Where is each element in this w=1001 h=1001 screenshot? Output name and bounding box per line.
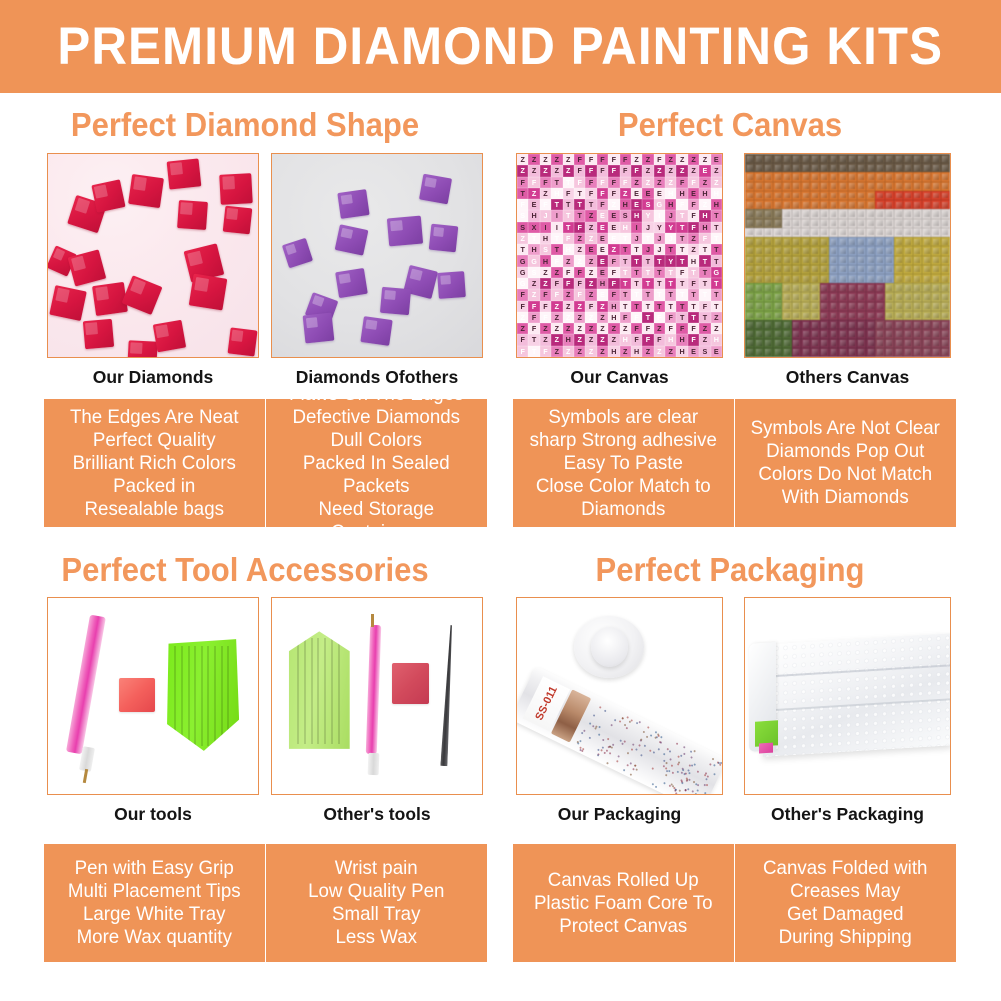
others-canvas-cell bbox=[857, 292, 866, 301]
tube-print-speck bbox=[624, 723, 627, 726]
others-canvas-cell bbox=[857, 191, 866, 200]
canvas-cell: H bbox=[620, 334, 631, 345]
tube-print-speck bbox=[598, 733, 601, 736]
canvas-cell: H bbox=[608, 312, 619, 323]
canvas-cell: F bbox=[688, 278, 699, 289]
others-canvas-cell bbox=[792, 292, 801, 301]
others-canvas-cell bbox=[754, 311, 763, 320]
tube-print-speck bbox=[580, 740, 583, 743]
canvas-cell: F bbox=[654, 312, 665, 323]
others-canvas-cell bbox=[913, 182, 922, 191]
tube-print-speck bbox=[621, 717, 624, 720]
others-canvas-cell bbox=[792, 302, 801, 311]
others-canvas-cell bbox=[894, 348, 903, 357]
canvas-cell: T bbox=[563, 210, 574, 221]
panel-diamond-shape-ours: The Edges Are Neat Perfect Quality Brill… bbox=[48, 406, 260, 521]
others-canvas-cell bbox=[754, 228, 763, 237]
others-canvas-cell bbox=[773, 163, 782, 172]
others-canvas-cell bbox=[885, 182, 894, 191]
canvas-cell: T bbox=[574, 199, 585, 210]
others-canvas-cell bbox=[801, 172, 810, 181]
others-canvas-cell bbox=[875, 265, 884, 274]
canvas-cell: T bbox=[551, 233, 562, 244]
canvas-cell: G bbox=[517, 255, 528, 266]
canvas-cell: T bbox=[676, 255, 687, 266]
tube-print-speck bbox=[693, 763, 696, 766]
others-canvas-cell bbox=[792, 163, 801, 172]
canvas-cell: T bbox=[620, 278, 631, 289]
canvas-cell: H bbox=[620, 222, 631, 233]
others-canvas-cell bbox=[866, 182, 875, 191]
others-canvas-cell bbox=[866, 320, 875, 329]
others-canvas-cell bbox=[810, 320, 819, 329]
tube-print-speck bbox=[680, 754, 683, 757]
canvas-cell: H bbox=[688, 255, 699, 266]
others-canvas-cell bbox=[838, 320, 847, 329]
tube-print-speck bbox=[596, 754, 599, 757]
others-canvas-cell bbox=[922, 200, 931, 209]
others-canvas-cell bbox=[875, 320, 884, 329]
others-canvas-cell bbox=[903, 191, 912, 200]
section-title-diamond-shape: Perfect Diamond Shape bbox=[34, 108, 457, 141]
others-canvas-cell bbox=[764, 256, 773, 265]
canvas-cell: Z bbox=[517, 165, 528, 176]
others-canvas-cell bbox=[922, 172, 931, 181]
canvas-cell: Z bbox=[528, 289, 539, 300]
others-canvas-cell bbox=[848, 339, 857, 348]
canvas-cell: Z bbox=[585, 334, 596, 345]
canvas-cell: Z bbox=[563, 154, 574, 165]
section-title-tool-accessories: Perfect Tool Accessories bbox=[34, 553, 457, 586]
others-canvas-cell bbox=[857, 200, 866, 209]
tube-print-speck bbox=[697, 784, 700, 787]
photo-frame-our-diamonds bbox=[47, 153, 259, 358]
canvas-cell: F bbox=[631, 323, 642, 334]
photo-frame-other-packaging bbox=[744, 597, 951, 795]
others-canvas-cell bbox=[848, 311, 857, 320]
others-canvas-cell bbox=[745, 237, 754, 246]
others-canvas-cell bbox=[801, 311, 810, 320]
canvas-cell: T bbox=[676, 233, 687, 244]
canvas-cell: F bbox=[699, 301, 710, 312]
canvas-cell: H bbox=[608, 346, 619, 357]
others-canvas-cell bbox=[820, 348, 829, 357]
canvas-cell: Z bbox=[620, 323, 631, 334]
canvas-cell: Z bbox=[608, 199, 619, 210]
canvas-cell: Z bbox=[563, 323, 574, 334]
tube-print-speck bbox=[687, 787, 690, 790]
others-canvas-cell bbox=[754, 163, 763, 172]
others-canvas-cell bbox=[885, 219, 894, 228]
tube-print-speck bbox=[666, 762, 669, 765]
others-canvas-cell bbox=[875, 339, 884, 348]
others-canvas-cell bbox=[875, 154, 884, 163]
canvas-cell: Z bbox=[528, 278, 539, 289]
others-canvas-cell bbox=[894, 163, 903, 172]
canvas-cell: T bbox=[642, 278, 653, 289]
canvas-cell: Z bbox=[585, 255, 596, 266]
canvas-cell: T bbox=[711, 255, 722, 266]
others-canvas-cell bbox=[885, 191, 894, 200]
others-canvas-cell bbox=[745, 283, 754, 292]
panel-tools-others: Wrist pain Low Quality Pen Small Tray Le… bbox=[271, 857, 483, 949]
others-canvas-cell bbox=[848, 348, 857, 357]
canvas-cell: S bbox=[540, 244, 551, 255]
others-canvas-cell bbox=[875, 182, 884, 191]
others-canvas-cell bbox=[848, 200, 857, 209]
others-canvas-cell bbox=[792, 228, 801, 237]
others-canvas-cell bbox=[913, 292, 922, 301]
canvas-cell: T bbox=[631, 267, 642, 278]
others-canvas-cell bbox=[875, 163, 884, 172]
canvas-cell: Z bbox=[517, 154, 528, 165]
others-canvas-cell bbox=[838, 329, 847, 338]
others-canvas-cell bbox=[885, 302, 894, 311]
tube-print-speck bbox=[603, 752, 606, 755]
others-canvas-cell bbox=[820, 256, 829, 265]
canvas-cell: E bbox=[528, 199, 539, 210]
canvas-cell: F bbox=[517, 301, 528, 312]
canvas-cell: Z bbox=[574, 244, 585, 255]
others-canvas-cell bbox=[754, 237, 763, 246]
canvas-cell: H bbox=[711, 199, 722, 210]
others-canvas-cell bbox=[885, 163, 894, 172]
others-canvas-cell bbox=[801, 348, 810, 357]
others-canvas-cell bbox=[801, 200, 810, 209]
others-canvas-cell bbox=[754, 302, 763, 311]
canvas-cell: T bbox=[642, 233, 653, 244]
bubble-mailer bbox=[763, 633, 950, 756]
canvas-cell: Z bbox=[631, 177, 642, 188]
others-canvas-cell bbox=[922, 348, 931, 357]
canvas-cell: H bbox=[540, 255, 551, 266]
canvas-cell: Z bbox=[654, 346, 665, 357]
others-canvas-cell bbox=[922, 339, 931, 348]
others-canvas-cell bbox=[922, 274, 931, 283]
canvas-cell: F bbox=[597, 165, 608, 176]
tube-print-speck bbox=[674, 788, 677, 791]
others-canvas-cell bbox=[885, 246, 894, 255]
others-canvas-cell bbox=[801, 274, 810, 283]
tube-print-speck bbox=[671, 764, 674, 767]
others-canvas-cell bbox=[773, 320, 782, 329]
others-canvas-cell bbox=[894, 228, 903, 237]
others-canvas-cell bbox=[857, 237, 866, 246]
tube-print-speck bbox=[631, 748, 634, 751]
canvas-cell: F bbox=[563, 267, 574, 278]
tube-print-speck bbox=[619, 739, 622, 742]
others-canvas-cell bbox=[866, 209, 875, 218]
red-diamonds-photo bbox=[48, 154, 258, 357]
others-canvas-cell bbox=[838, 172, 847, 181]
canvas-cell: F bbox=[608, 255, 619, 266]
others-canvas-cell bbox=[838, 283, 847, 292]
canvas-cell: F bbox=[563, 188, 574, 199]
tube-print-speck bbox=[676, 742, 679, 745]
others-canvas-cell bbox=[931, 237, 940, 246]
others-canvas-cell bbox=[810, 274, 819, 283]
others-canvas-cell bbox=[792, 191, 801, 200]
tube-print-speck bbox=[618, 720, 621, 723]
others-canvas-cell bbox=[894, 265, 903, 274]
canvas-cell: T bbox=[711, 289, 722, 300]
caption-our-packaging: Our Packaging bbox=[516, 806, 723, 824]
canvas-cell: E bbox=[654, 188, 665, 199]
others-canvas-cell bbox=[903, 283, 912, 292]
canvas-cell: Z bbox=[563, 346, 574, 357]
canvas-cell: F bbox=[517, 346, 528, 357]
others-canvas-cell bbox=[773, 219, 782, 228]
others-canvas-cell bbox=[931, 292, 940, 301]
others-canvas-cell bbox=[848, 329, 857, 338]
others-canvas-cell bbox=[773, 302, 782, 311]
canvas-cell: H bbox=[631, 210, 642, 221]
others-canvas-cell bbox=[838, 246, 847, 255]
tube-print-speck bbox=[668, 770, 671, 773]
others-canvas-cell bbox=[903, 320, 912, 329]
canvas-cell: Z bbox=[699, 154, 710, 165]
others-canvas-cell bbox=[829, 311, 838, 320]
tube-print-speck bbox=[688, 771, 691, 774]
others-canvas-cell bbox=[931, 302, 940, 311]
tube-print-speck bbox=[645, 735, 648, 738]
others-canvas-cell bbox=[764, 200, 773, 209]
others-canvas-cell bbox=[913, 209, 922, 218]
others-canvas-cell bbox=[829, 154, 838, 163]
section-title-packaging: Perfect Packaging bbox=[519, 553, 942, 586]
others-canvas-cell bbox=[820, 182, 829, 191]
others-canvas-cell bbox=[764, 191, 773, 200]
others-canvas-cell bbox=[764, 339, 773, 348]
canvas-cell: Z bbox=[608, 323, 619, 334]
others-canvas-cell bbox=[866, 154, 875, 163]
canvas-cell: T bbox=[551, 244, 562, 255]
canvas-cell: T bbox=[665, 244, 676, 255]
others-canvas-cell bbox=[941, 237, 950, 246]
others-canvas-cell bbox=[820, 320, 829, 329]
canvas-cell: T bbox=[517, 188, 528, 199]
caption-our-tools: Our tools bbox=[47, 806, 259, 824]
tube-print-speck bbox=[660, 735, 663, 738]
canvas-cell: T bbox=[631, 244, 642, 255]
canvas-cell: F bbox=[517, 177, 528, 188]
panel-divider bbox=[265, 399, 267, 527]
others-canvas-cell bbox=[848, 265, 857, 274]
tube-print-speck bbox=[694, 750, 697, 753]
canvas-cell: H bbox=[597, 278, 608, 289]
canvas-cell: Z bbox=[540, 188, 551, 199]
canvas-cell: Z bbox=[574, 255, 585, 266]
others-canvas-cell bbox=[913, 348, 922, 357]
panel-canvas: Symbols are clear sharp Strong adhesive … bbox=[513, 399, 956, 527]
tube-print-speck bbox=[639, 720, 642, 723]
others-canvas-cell bbox=[931, 172, 940, 181]
others-canvas-cell bbox=[801, 292, 810, 301]
others-canvas-cell bbox=[913, 172, 922, 181]
others-canvas-cell bbox=[764, 182, 773, 191]
others-canvas-cell bbox=[922, 246, 931, 255]
others-canvas-cell bbox=[838, 163, 847, 172]
others-canvas-cell bbox=[857, 311, 866, 320]
others-canvas-cell bbox=[857, 274, 866, 283]
others-canvas-cell bbox=[792, 265, 801, 274]
tube-print-speck bbox=[675, 792, 678, 794]
others-canvas-cell bbox=[773, 182, 782, 191]
others-canvas-cell bbox=[866, 302, 875, 311]
others-canvas-cell bbox=[773, 311, 782, 320]
peeking-pen bbox=[759, 743, 773, 754]
canvas-cell: T bbox=[528, 346, 539, 357]
others-canvas-cell bbox=[792, 256, 801, 265]
canvas-cell: I bbox=[551, 210, 562, 221]
tube-print-speck bbox=[640, 738, 643, 741]
canvas-cell: H bbox=[631, 346, 642, 357]
canvas-cell: Z bbox=[563, 301, 574, 312]
canvas-cell: G bbox=[528, 255, 539, 266]
tube-print-speck bbox=[686, 780, 689, 783]
canvas-cell: F bbox=[608, 289, 619, 300]
others-canvas-cell bbox=[866, 265, 875, 274]
others-canvas-cell bbox=[941, 348, 950, 357]
others-canvas-cell bbox=[810, 182, 819, 191]
others-canvas-cell bbox=[931, 200, 940, 209]
canvas-cell: T bbox=[551, 177, 562, 188]
others-canvas-cell bbox=[773, 237, 782, 246]
caption-other-packaging: Other's Packaging bbox=[744, 806, 951, 824]
others-canvas-cell bbox=[782, 274, 791, 283]
canvas-cell: Z bbox=[699, 177, 710, 188]
canvas-cell: J bbox=[540, 210, 551, 221]
others-canvas-cell bbox=[941, 292, 950, 301]
others-canvas-cell bbox=[820, 302, 829, 311]
canvas-cell: E bbox=[631, 199, 642, 210]
others-canvas-cell bbox=[820, 246, 829, 255]
others-canvas-cell bbox=[782, 209, 791, 218]
others-canvas-cell bbox=[931, 246, 940, 255]
blurry-color-canvas-photo bbox=[745, 154, 950, 357]
others-canvas-cell bbox=[848, 274, 857, 283]
canvas-cell: E bbox=[597, 222, 608, 233]
canvas-cell: T bbox=[676, 210, 687, 221]
others-canvas-cell bbox=[838, 154, 847, 163]
canvas-cell: T bbox=[654, 255, 665, 266]
others-canvas-cell bbox=[838, 209, 847, 218]
others-canvas-cell bbox=[829, 209, 838, 218]
others-canvas-cell bbox=[801, 265, 810, 274]
others-canvas-cell bbox=[922, 154, 931, 163]
others-canvas-cell bbox=[875, 329, 884, 338]
others-canvas-cell bbox=[810, 283, 819, 292]
canvas-cell: J bbox=[654, 233, 665, 244]
canvas-cell: Z bbox=[540, 323, 551, 334]
others-canvas-cell bbox=[820, 200, 829, 209]
others-canvas-cell bbox=[792, 246, 801, 255]
our-tools-photo bbox=[48, 598, 258, 794]
others-canvas-cell bbox=[810, 265, 819, 274]
canvas-cell: Z bbox=[551, 165, 562, 176]
others-canvas-cell bbox=[745, 320, 754, 329]
canvas-cell: F bbox=[620, 154, 631, 165]
canvas-cell: F bbox=[585, 301, 596, 312]
tube-print-speck bbox=[709, 763, 712, 766]
others-canvas-cell bbox=[885, 320, 894, 329]
canvas-cell: T bbox=[676, 312, 687, 323]
canvas-cell: F bbox=[528, 323, 539, 334]
canvas-cell: F bbox=[620, 177, 631, 188]
others-canvas-cell bbox=[745, 182, 754, 191]
tube-print-speck bbox=[621, 743, 624, 746]
others-canvas-cell bbox=[913, 219, 922, 228]
canvas-cell: T bbox=[699, 278, 710, 289]
others-canvas-cell bbox=[764, 320, 773, 329]
others-canvas-cell bbox=[838, 311, 847, 320]
tube-print-speck bbox=[692, 790, 695, 793]
canvas-cell: Y bbox=[665, 222, 676, 233]
tube-print-speck bbox=[604, 709, 607, 712]
canvas-cell: Z bbox=[585, 289, 596, 300]
others-canvas-cell bbox=[829, 163, 838, 172]
others-canvas-cell bbox=[754, 348, 763, 357]
canvas-cell: F bbox=[608, 267, 619, 278]
others-canvas-cell bbox=[931, 182, 940, 191]
others-canvas-cell bbox=[820, 209, 829, 218]
canvas-cell: T bbox=[676, 278, 687, 289]
others-canvas-cell bbox=[941, 339, 950, 348]
others-canvas-cell bbox=[894, 246, 903, 255]
canvas-cell: F bbox=[574, 289, 585, 300]
tube-print-speck bbox=[677, 761, 680, 764]
canvas-cell: Z bbox=[688, 154, 699, 165]
others-canvas-cell bbox=[773, 172, 782, 181]
tube-print-speck bbox=[658, 748, 661, 751]
canvas-cell: I bbox=[631, 222, 642, 233]
others-canvas-cell bbox=[745, 219, 754, 228]
canvas-cell: T bbox=[711, 301, 722, 312]
others-canvas-cell bbox=[931, 265, 940, 274]
tube-print-speck bbox=[660, 741, 663, 744]
others-canvas-cell bbox=[922, 228, 931, 237]
others-canvas-cell bbox=[903, 219, 912, 228]
others-canvas-cell bbox=[838, 265, 847, 274]
tube-print-speck bbox=[653, 751, 656, 754]
tube-print-speck bbox=[631, 719, 634, 722]
others-canvas-cell bbox=[922, 209, 931, 218]
others-canvas-cell bbox=[903, 163, 912, 172]
others-canvas-cell bbox=[931, 191, 940, 200]
rolled-tube-photo: SS-011 bbox=[517, 598, 722, 794]
canvas-cell: Z bbox=[551, 312, 562, 323]
canvas-cell: Z bbox=[665, 154, 676, 165]
others-canvas-cell bbox=[903, 274, 912, 283]
others-canvas-cell bbox=[792, 182, 801, 191]
canvas-cell: T bbox=[631, 301, 642, 312]
others-canvas-cell bbox=[857, 320, 866, 329]
canvas-cell: F bbox=[608, 154, 619, 165]
canvas-cell: Z bbox=[585, 210, 596, 221]
canvas-cell: F bbox=[528, 301, 539, 312]
canvas-cell: Z bbox=[654, 177, 665, 188]
tube-print-speck bbox=[706, 777, 709, 780]
canvas-cell: H bbox=[528, 244, 539, 255]
others-canvas-cell bbox=[913, 339, 922, 348]
others-canvas-cell bbox=[782, 339, 791, 348]
others-canvas-cell bbox=[941, 191, 950, 200]
others-canvas-cell bbox=[764, 302, 773, 311]
tube-print-speck bbox=[610, 724, 613, 727]
canvas-cell: Z bbox=[517, 323, 528, 334]
others-canvas-cell bbox=[820, 191, 829, 200]
canvas-cell: Z bbox=[711, 165, 722, 176]
